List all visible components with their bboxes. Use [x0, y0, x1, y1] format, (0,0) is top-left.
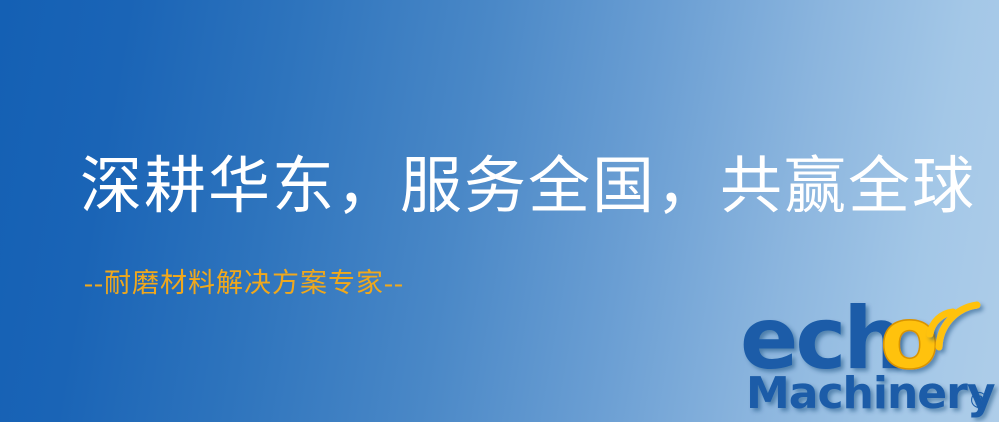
promotional-banner: 深耕华东，服务全国，共赢全球 --耐磨材料解决方案专家-- ech o Mach…	[0, 0, 999, 422]
banner-subtitle: --耐磨材料解决方案专家--	[84, 266, 404, 300]
company-logo: ech o Machinery ®	[740, 296, 996, 418]
registered-trademark-icon: ®	[968, 389, 990, 414]
banner-headline: 深耕华东，服务全国，共赢全球	[80, 151, 976, 223]
logo-text-machinery: Machinery	[746, 368, 995, 419]
signal-waves-icon	[930, 305, 977, 347]
